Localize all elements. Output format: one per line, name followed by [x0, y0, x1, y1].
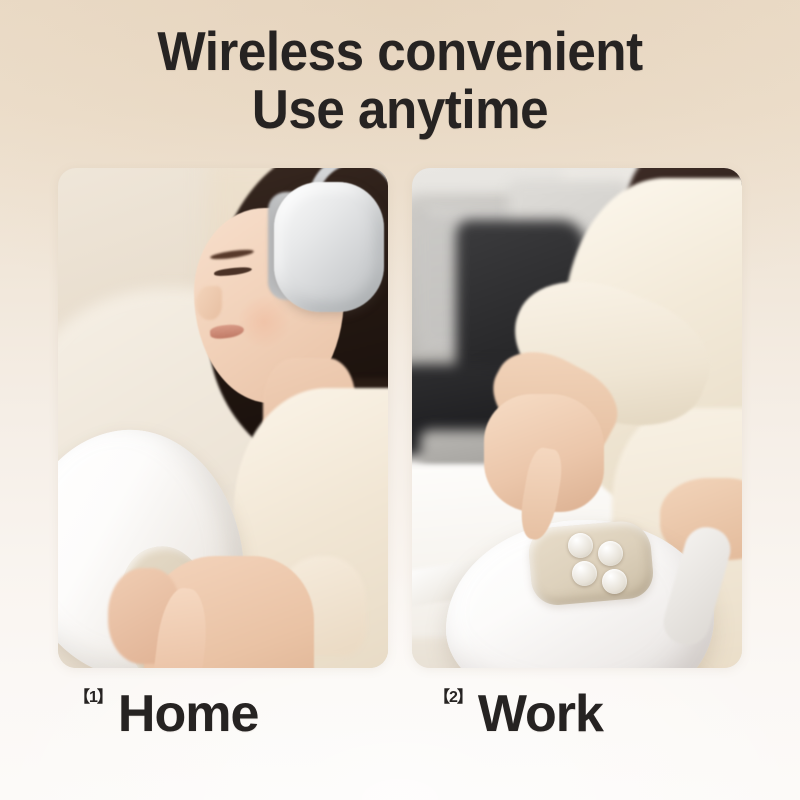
- caption-tag-2: 【2】: [434, 690, 472, 740]
- headphone-earcup-icon: [274, 182, 384, 312]
- photo-panels: [58, 168, 742, 668]
- scene-home-living-room: [58, 168, 388, 668]
- caption-tag-1: 【1】: [74, 690, 112, 740]
- caption-work: 【2】 Work: [434, 688, 603, 740]
- headline-line-1: Wireless convenient: [28, 22, 772, 80]
- caption-home: 【1】 Home: [74, 688, 258, 740]
- headline-line-2: Use anytime: [28, 80, 772, 138]
- cheek-highlight: [236, 296, 292, 348]
- control-button-icon: [572, 561, 597, 586]
- control-button-icon: [568, 533, 593, 558]
- caption-label-home: Home: [118, 688, 258, 740]
- panel-captions: 【1】 Home 【2】 Work: [0, 688, 800, 778]
- caption-label-work: Work: [478, 688, 603, 740]
- control-button-icon: [602, 569, 627, 594]
- photo-panel-work: [412, 168, 742, 668]
- scene-office-desk: [412, 168, 742, 668]
- control-button-icon: [598, 541, 623, 566]
- product-poster: Wireless convenient Use anytime: [0, 0, 800, 800]
- nose: [196, 286, 222, 320]
- photo-panel-home: [58, 168, 388, 668]
- headline: Wireless convenient Use anytime: [0, 22, 800, 138]
